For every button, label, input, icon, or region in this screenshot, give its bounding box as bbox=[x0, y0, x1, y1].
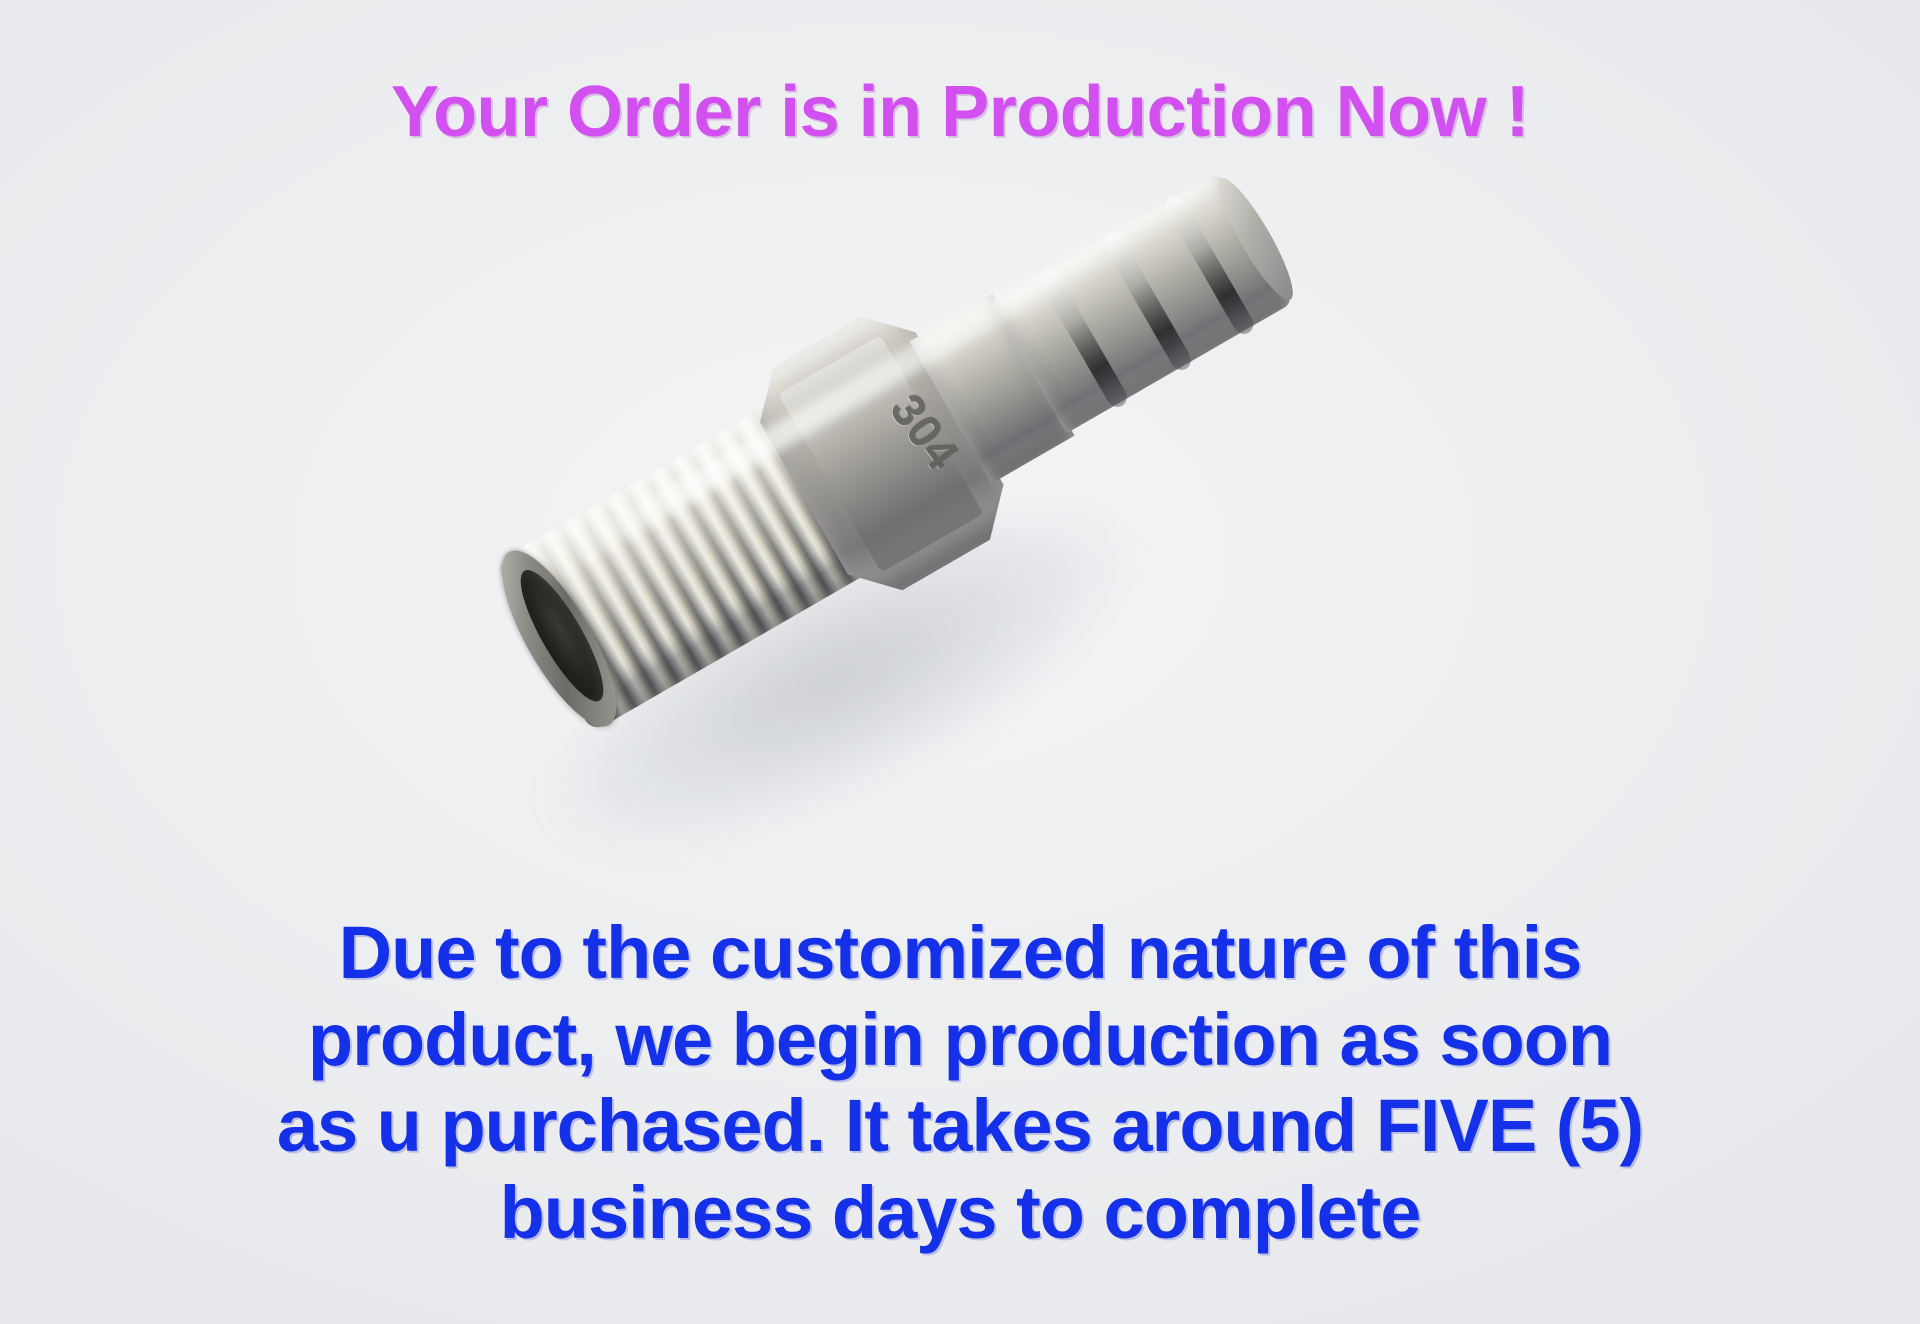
production-notice: Due to the customized nature of this pro… bbox=[110, 910, 1810, 1256]
notice-line: as u purchased. It takes around FIVE (5) bbox=[110, 1083, 1810, 1170]
notice-line: Due to the customized nature of this bbox=[110, 910, 1810, 997]
notice-line: product, we begin production as soon bbox=[110, 997, 1810, 1084]
page-title: Your Order is in Production Now ! bbox=[0, 76, 1920, 148]
notice-line: business days to complete bbox=[110, 1170, 1810, 1257]
